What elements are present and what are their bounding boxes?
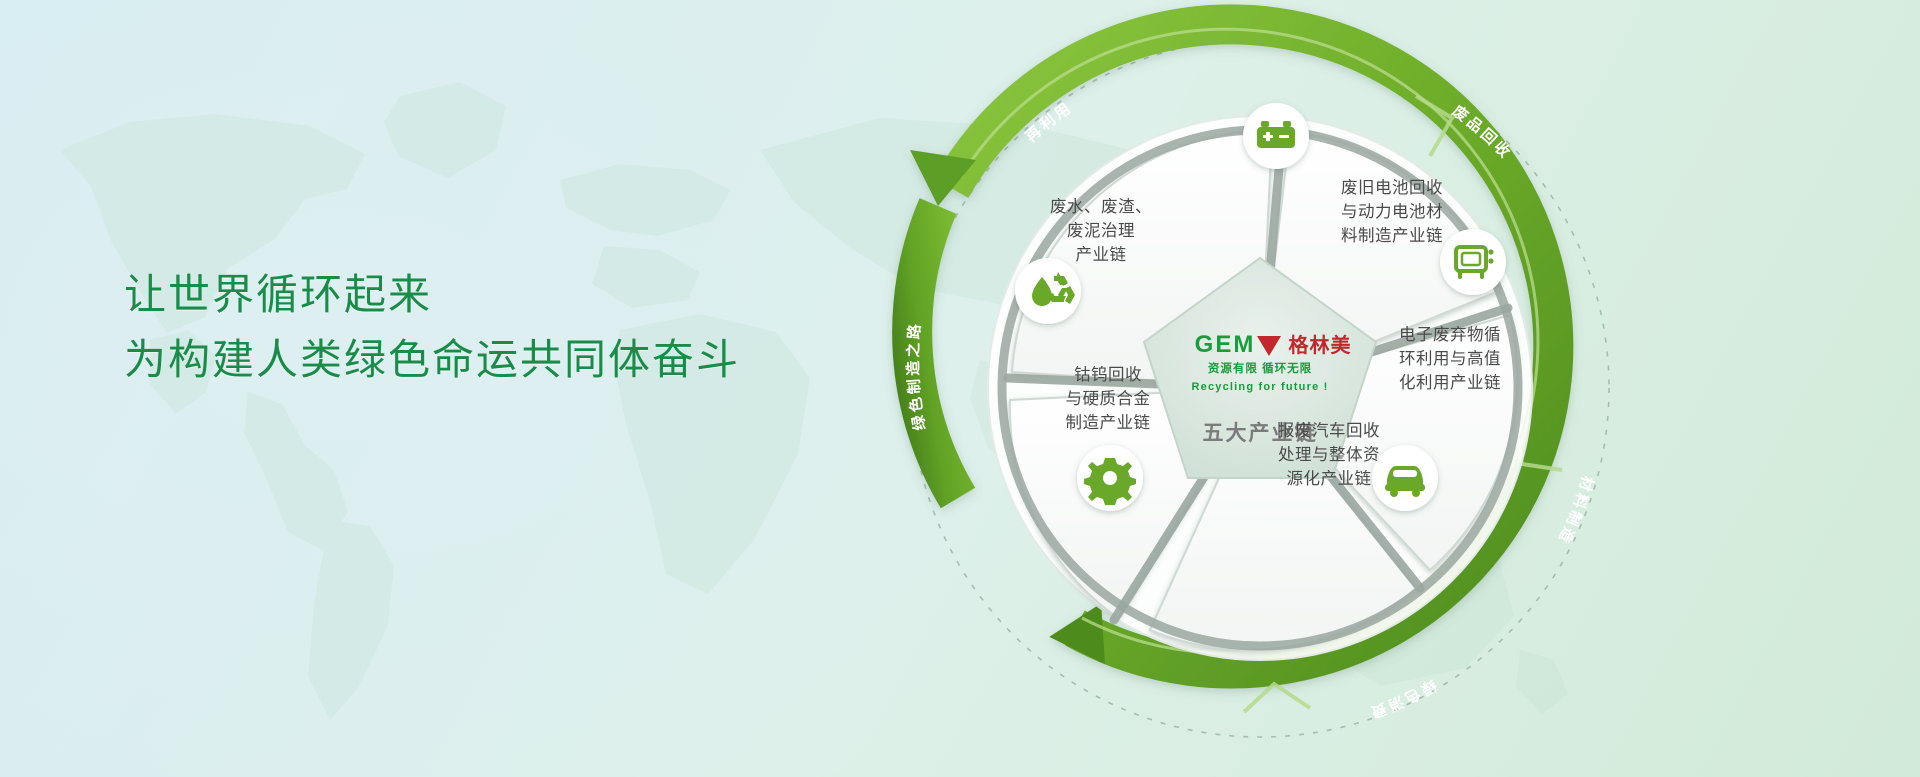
gear-icon-bubble <box>1077 445 1143 511</box>
svg-text:钴钨回收: 钴钨回收 <box>1074 365 1142 384</box>
svg-text:电子废弃物循: 电子废弃物循 <box>1399 325 1501 344</box>
svg-text:处理与整体资: 处理与整体资 <box>1278 445 1380 464</box>
banner-root: 让世界循环起来 为构建人类绿色命运共同体奋斗 <box>0 0 1920 777</box>
gem-logo-mark: GEM <box>1195 331 1256 358</box>
segment-label-cobalt: 钴钨回收 与硬质合金 制造产业链 <box>1066 365 1151 432</box>
svg-text:与硬质合金: 与硬质合金 <box>1066 389 1151 408</box>
ring-label-material-manufacture: 材料制造 <box>1554 474 1597 548</box>
headline-line-2: 为构建人类绿色命运共同体奋斗 <box>124 327 740 392</box>
segment-label-vehicle: 报废汽车回收 处理与整体资 源化产业链 <box>1278 421 1380 488</box>
industry-chain-diagram: GEM 格林美 资源有限 循环无限 Recycling for future !… <box>820 0 1700 777</box>
svg-text:产业链: 产业链 <box>1076 245 1127 264</box>
svg-text:报废汽车回收: 报废汽车回收 <box>1278 421 1380 440</box>
svg-text:制造产业链: 制造产业链 <box>1066 413 1151 432</box>
svg-text:料制造产业链: 料制造产业链 <box>1341 226 1443 245</box>
svg-text:环利用与高值: 环利用与高值 <box>1399 349 1501 368</box>
svg-text:废泥治理: 废泥治理 <box>1067 221 1135 240</box>
ring-label-green-consume: 绿色消费 <box>1366 676 1440 722</box>
tv-icon-bubble <box>1440 229 1506 295</box>
segment-label-ewaste: 电子废弃物循 环利用与高值 化利用产业链 <box>1399 325 1501 392</box>
svg-text:废旧电池回收: 废旧电池回收 <box>1341 178 1443 197</box>
battery-icon-bubble <box>1243 103 1309 169</box>
gem-logo-cn: 格林美 <box>1289 333 1352 357</box>
gem-slogan-en: Recycling for future ! <box>1191 381 1328 393</box>
svg-text:化利用产业链: 化利用产业链 <box>1399 373 1501 392</box>
svg-text:与动力电池材: 与动力电池材 <box>1341 202 1443 221</box>
svg-text:源化产业链: 源化产业链 <box>1287 469 1372 488</box>
gear-icon <box>1084 458 1136 505</box>
recycle-drop-icon-bubble <box>1015 258 1081 324</box>
gem-slogan-cn: 资源有限 循环无限 <box>1208 361 1312 375</box>
headline-line-1: 让世界循环起来 <box>124 262 740 327</box>
car-icon-bubble <box>1372 445 1438 511</box>
headline: 让世界循环起来 为构建人类绿色命运共同体奋斗 <box>124 262 740 392</box>
segment-label-battery: 废旧电池回收 与动力电池材 料制造产业链 <box>1341 178 1443 245</box>
svg-text:废水、废渣、: 废水、废渣、 <box>1050 197 1152 216</box>
